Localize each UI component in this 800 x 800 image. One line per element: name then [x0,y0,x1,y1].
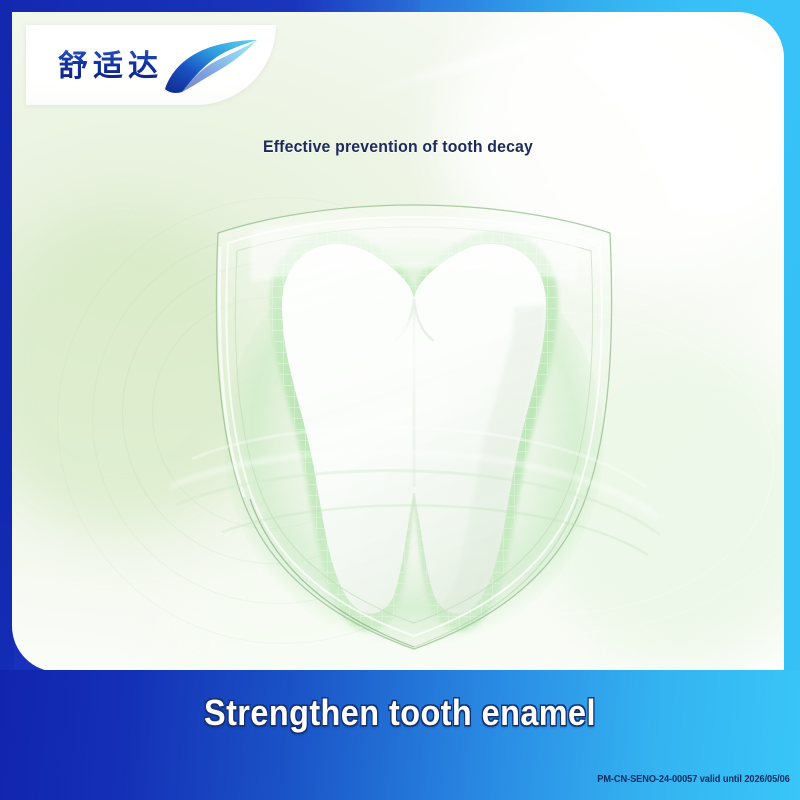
light-streak [436,57,759,147]
banner-title: Strengthen tooth enamel [40,692,760,734]
hero-artwork [162,187,662,662]
legal-code: PM-CN-SENO-24-00057 valid until 2026/05/… [598,773,790,785]
swoosh-icon [162,30,262,96]
bottom-banner: Strengthen tooth enamel PM-CN-SENO-24-00… [0,670,800,800]
content-panel: 舒适达 Effective prevention of tooth decay [12,12,784,672]
light-streak [346,12,637,103]
brand-logo-text: 舒适达 [58,41,163,85]
page-title: Effective prevention of tooth decay [39,137,757,157]
poster-root: 舒适达 Effective prevention of tooth decay … [0,0,800,800]
